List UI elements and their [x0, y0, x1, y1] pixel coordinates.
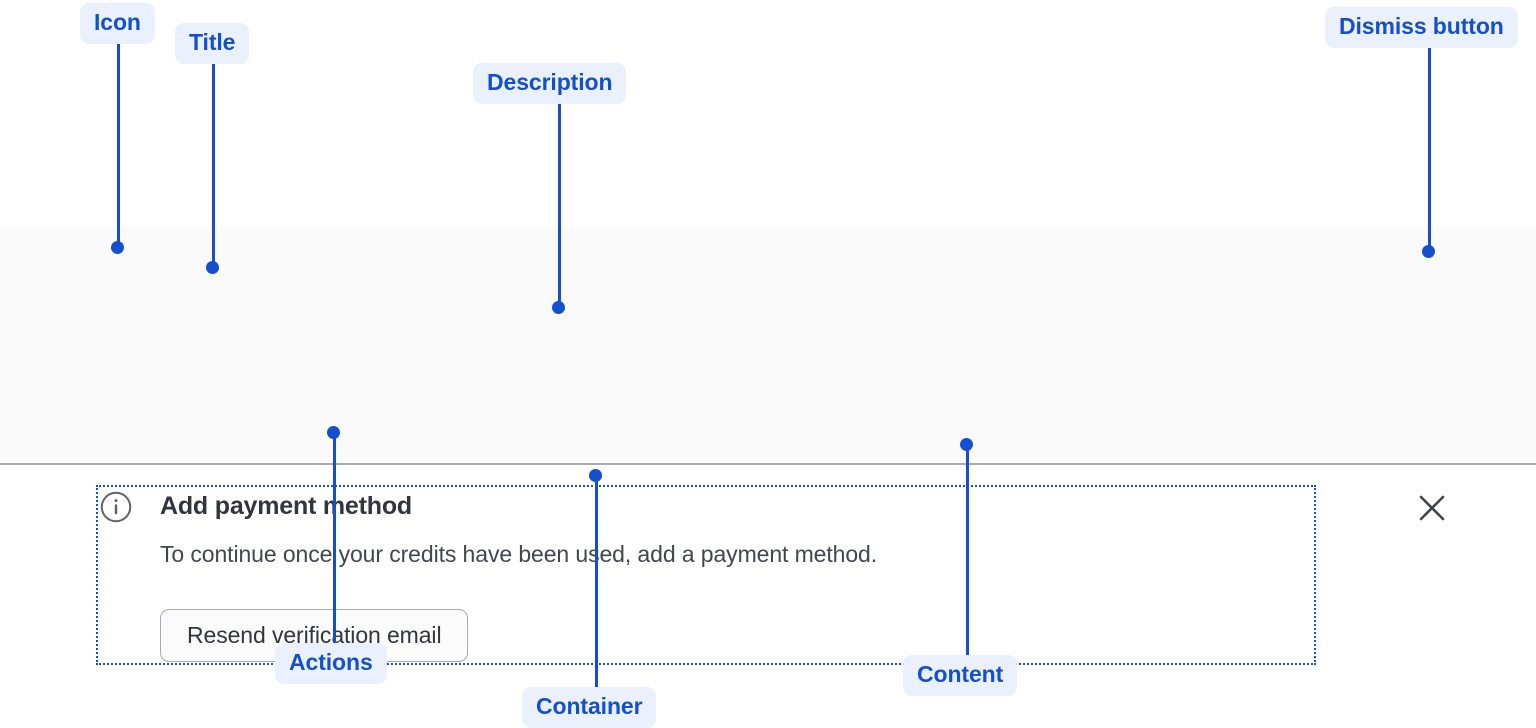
- annotation-dot-content: [960, 438, 973, 451]
- annotation-leader-line-description: [558, 104, 561, 307]
- annotation-dot-dismiss-button: [1422, 245, 1435, 258]
- info-circle-icon: [100, 491, 132, 523]
- annotation-dot-container: [589, 469, 602, 482]
- annotation-label-dismiss-button: Dismiss button: [1325, 7, 1518, 48]
- annotation-label-title: Title: [175, 23, 249, 64]
- notification-banner-container: Add payment method To continue once your…: [0, 227, 1536, 465]
- annotation-label-container: Container: [522, 687, 656, 728]
- dismiss-button[interactable]: [1414, 490, 1450, 526]
- annotation-leader-line-actions: [333, 438, 336, 643]
- annotation-dot-actions: [327, 426, 340, 439]
- annotation-label-description: Description: [473, 63, 626, 104]
- annotation-dot-icon: [111, 241, 124, 254]
- annotation-dot-title: [206, 261, 219, 274]
- annotation-leader-line-container: [595, 481, 598, 687]
- close-x-icon: [1414, 490, 1450, 526]
- annotation-leader-line-dismiss-button: [1428, 48, 1431, 251]
- annotation-leader-line-icon: [117, 44, 120, 248]
- annotation-leader-line-title: [212, 64, 215, 267]
- annotation-dot-description: [552, 301, 565, 314]
- annotation-label-icon: Icon: [80, 3, 155, 44]
- banner-description: To continue once your credits have been …: [160, 541, 877, 568]
- annotation-label-actions: Actions: [275, 643, 387, 684]
- annotation-leader-line-content: [966, 450, 969, 655]
- annotation-label-content: Content: [903, 655, 1017, 696]
- banner-title: Add payment method: [160, 492, 412, 521]
